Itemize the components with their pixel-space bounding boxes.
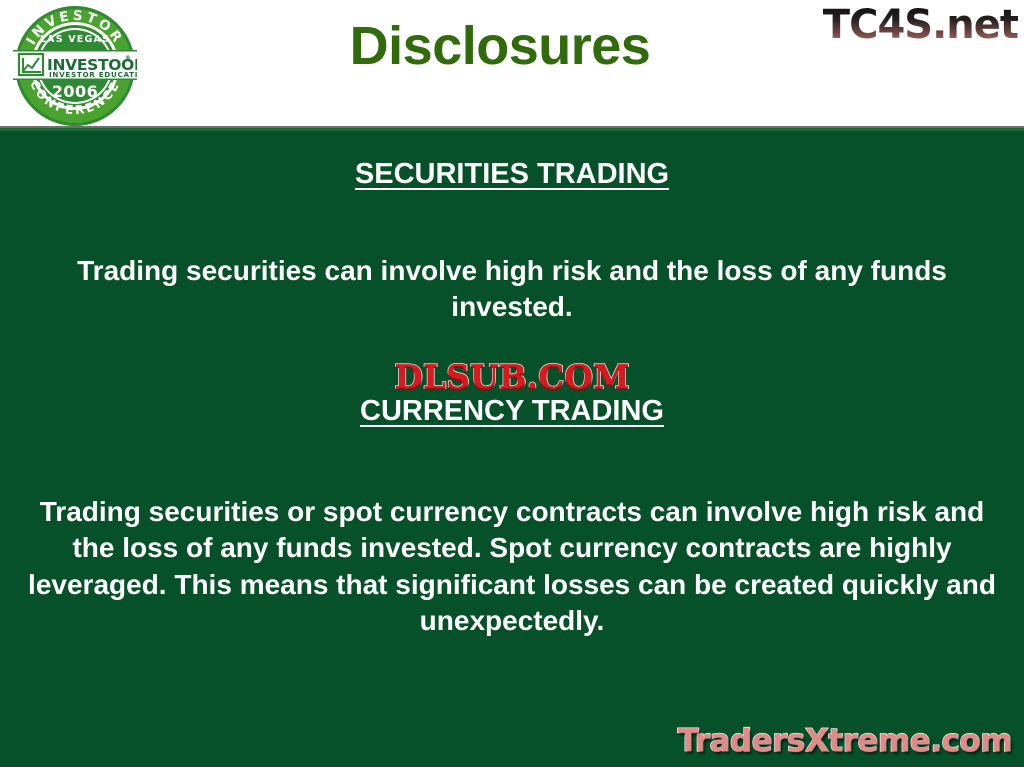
logo-city-text: LAS VEGAS <box>40 34 110 45</box>
section-heading-securities-trading: SECURITIES TRADING <box>0 158 1024 191</box>
section-heading-securities-trading-label: SECURITIES TRADING <box>355 158 669 190</box>
investools-conference-logo: INVESTOR CONFERENCE LAS VEGAS INVESTOOLS… <box>13 4 137 128</box>
slide-body: SECURITIES TRADING Trading securities ca… <box>0 131 1024 767</box>
section-body-currency-trading: Trading securities or spot currency cont… <box>0 494 1024 640</box>
logo-tagline-text: INVESTOR EDUCATION <box>49 70 137 79</box>
section-heading-currency-trading: CURRENCY TRADING <box>0 395 1024 428</box>
tradersxtreme-watermark: TradersXtreme.com <box>677 723 1012 759</box>
logo-registered-mark: ® <box>125 55 131 62</box>
page-title: Disclosures <box>150 18 850 75</box>
dlsub-watermark: DLSUB.COM <box>0 357 1024 396</box>
tc4s-watermark: TC4S.net <box>823 2 1018 48</box>
slide-header: INVESTOR CONFERENCE LAS VEGAS INVESTOOLS… <box>0 0 1024 131</box>
section-heading-currency-trading-label: CURRENCY TRADING <box>360 395 664 427</box>
presentation-slide: INVESTOR CONFERENCE LAS VEGAS INVESTOOLS… <box>0 0 1024 767</box>
logo-year-text: 2006 <box>52 82 99 101</box>
section-body-securities-trading: Trading securities can involve high risk… <box>0 253 1024 326</box>
